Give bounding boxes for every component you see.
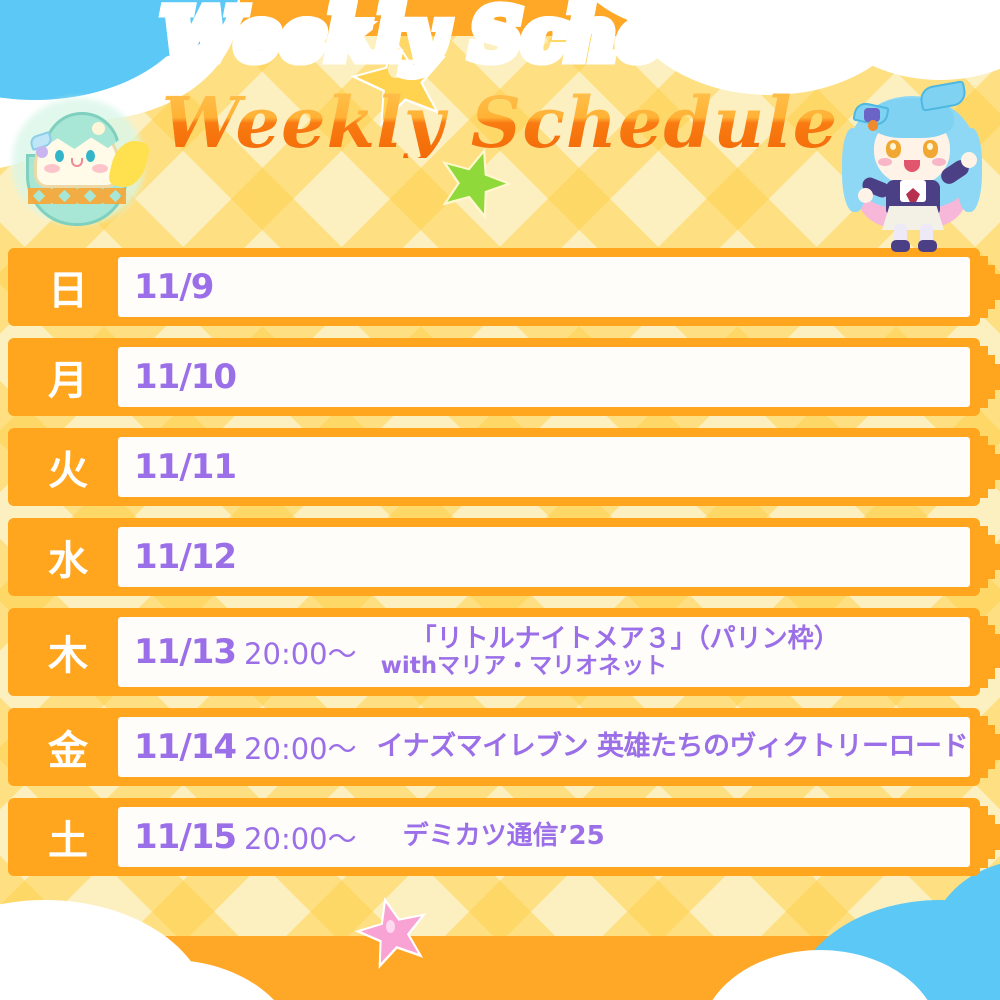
row-step-3 — [993, 634, 1000, 668]
day-label-friday: 金 — [20, 708, 116, 786]
schedule-row-friday[interactable]: 金 11/14 20:00〜 イナズマイレブン 英雄たちのヴィクトリーロード — [0, 708, 1000, 786]
schedule-row-monday[interactable]: 月 11/10 — [0, 338, 1000, 416]
pink-star-icon — [362, 902, 424, 962]
program-title-secondary: withマリア・マリオネット — [375, 654, 668, 680]
pink-star-fill — [356, 895, 431, 968]
date-label: 11/13 — [134, 632, 236, 672]
row-step-3 — [993, 274, 1000, 300]
date-label: 11/15 — [134, 817, 236, 857]
date-label: 11/11 — [134, 447, 236, 487]
schedule-card-thursday[interactable]: 11/13 20:00〜 「リトルナイトメア３」（パリン枠） withマリア・マ… — [118, 617, 970, 687]
day-label-tuesday: 火 — [20, 428, 116, 506]
program-titles: 「リトルナイトメア３」（パリン枠） withマリア・マリオネット — [357, 625, 970, 680]
schedule-card-sunday[interactable]: 11/9 — [118, 257, 970, 317]
row-step-3 — [993, 364, 1000, 390]
day-label-wednesday: 水 — [20, 518, 116, 596]
page-title-stroke: Weekly Schedule — [162, 0, 839, 70]
header: Weekly Schedule Weekly Schedule — [0, 0, 1000, 245]
time-label: 20:00〜 — [244, 816, 357, 858]
program-title-primary: イナズマイレブン 英雄たちのヴィクトリーロード — [377, 732, 968, 762]
pink-star-highlight — [386, 920, 395, 933]
chibi-girl-mascot — [828, 64, 996, 242]
row-step-3 — [993, 454, 1000, 480]
row-step-3 — [993, 544, 1000, 570]
day-label-thursday: 木 — [20, 608, 116, 696]
date-label: 11/14 — [134, 727, 236, 767]
row-step-3 — [993, 734, 1000, 760]
day-label-monday: 月 — [20, 338, 116, 416]
schedule-card-monday[interactable]: 11/10 — [118, 347, 970, 407]
program-titles: イナズマイレブン 英雄たちのヴィクトリーロード — [357, 732, 970, 762]
schedule-row-tuesday[interactable]: 火 11/11 — [0, 428, 1000, 506]
program-title-primary: 「リトルナイトメア３」（パリン枠） — [375, 625, 840, 654]
date-label: 11/9 — [134, 267, 213, 307]
page-title: Weekly Schedule — [162, 88, 839, 158]
schedule-row-sunday[interactable]: 日 11/9 — [0, 248, 1000, 326]
time-label: 20:00〜 — [244, 726, 357, 768]
schedule-row-wednesday[interactable]: 水 11/12 — [0, 518, 1000, 596]
schedule-card-saturday[interactable]: 11/15 20:00〜 デミカツ通信’25 — [118, 807, 970, 867]
schedule-list: 日 11/9 月 11/10 — [0, 248, 1000, 888]
schedule-card-tuesday[interactable]: 11/11 — [118, 437, 970, 497]
date-label: 11/10 — [134, 357, 236, 397]
day-label-saturday: 土 — [20, 798, 116, 876]
page-title-outline: Weekly Schedule — [0, 0, 1000, 70]
time-label: 20:00〜 — [244, 631, 357, 673]
program-title-primary: デミカツ通信’25 — [403, 822, 605, 851]
schedule-card-wednesday[interactable]: 11/12 — [118, 527, 970, 587]
yellow-star-highlight — [388, 60, 403, 78]
schedule-row-saturday[interactable]: 土 11/15 20:00〜 デミカツ通信’25 — [0, 798, 1000, 876]
weekly-schedule-image: Weekly Schedule Weekly Schedule — [0, 0, 1000, 1000]
schedule-card-friday[interactable]: 11/14 20:00〜 イナズマイレブン 英雄たちのヴィクトリーロード — [118, 717, 970, 777]
program-titles: デミカツ通信’25 — [357, 822, 970, 851]
date-label: 11/12 — [134, 537, 236, 577]
day-label-sunday: 日 — [20, 248, 116, 326]
row-step-3 — [993, 824, 1000, 850]
egg-chick-mascot — [8, 96, 148, 226]
schedule-row-thursday[interactable]: 木 11/13 20:00〜 「リトルナイトメア３」（パリン枠） withマリア… — [0, 608, 1000, 696]
